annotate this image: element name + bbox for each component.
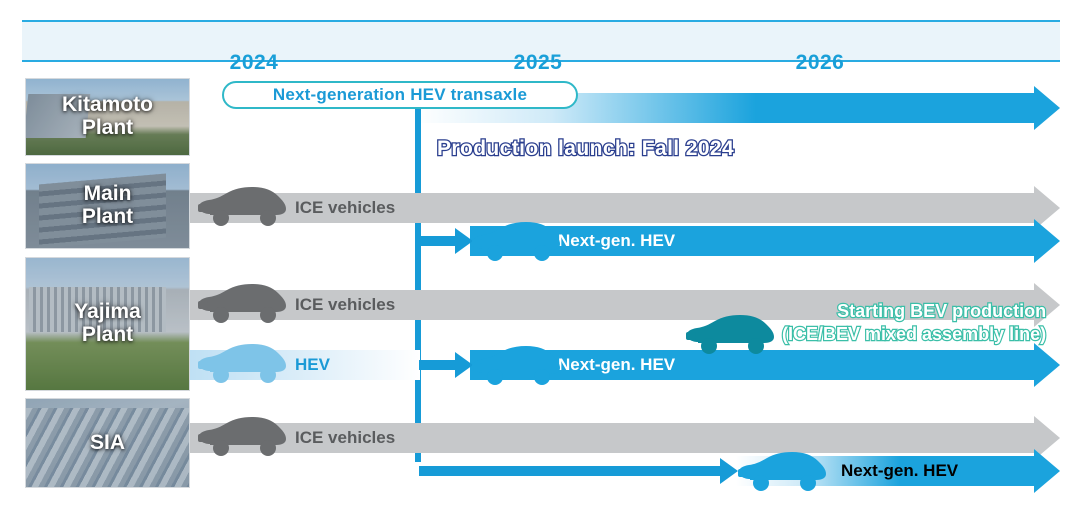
plant-label-kitamoto: Kitamoto Plant xyxy=(62,94,153,139)
bar-label: ICE vehicles xyxy=(295,290,395,320)
ice-car-icon xyxy=(196,414,290,460)
plant-tile-main: Main Plant xyxy=(25,163,190,249)
roadmap-diagram: 2024 2025 2026 Kitamoto Plant Main Plant… xyxy=(0,0,1080,523)
bar-arrow-head xyxy=(1034,86,1060,130)
plant-tile-sia: SIA xyxy=(25,398,190,488)
plant-label-sia: SIA xyxy=(90,432,125,455)
connector-line-sia xyxy=(419,466,724,476)
plant-tile-kitamoto: Kitamoto Plant xyxy=(25,78,190,156)
ice-car-icon xyxy=(196,184,290,230)
callout-production-launch: Production launch: Fall 2024 xyxy=(437,137,734,161)
ice-car-icon xyxy=(196,281,290,327)
bar-label: Next-gen. HEV xyxy=(558,350,675,380)
bar-label: ICE vehicles xyxy=(295,193,395,223)
plant-label-main: Main Plant xyxy=(82,183,133,228)
connector-line-yajima xyxy=(419,360,459,370)
connector-line-main xyxy=(419,236,459,246)
year-label-2026: 2026 xyxy=(760,51,880,75)
bar-sia-ice-vehicles: ICE vehicles xyxy=(190,423,1060,453)
bar-main-ice-vehicles: ICE vehicles xyxy=(190,193,1060,223)
plant-tile-yajima: Yajima Plant xyxy=(25,257,190,391)
nextgen-hev-car-icon xyxy=(736,449,830,495)
callout-bev-production: Starting BEV production (ICE/BEV mixed a… xyxy=(782,300,1046,345)
bar-label: Next-gen. HEV xyxy=(558,226,675,256)
bev-car-icon xyxy=(684,312,778,358)
pill-label: Next-generation HEV transaxle xyxy=(273,85,527,105)
nextgen-hev-car-icon xyxy=(470,219,564,265)
bar-arrow-head xyxy=(1034,219,1060,263)
hev-car-icon xyxy=(196,341,290,387)
plant-label-yajima: Yajima Plant xyxy=(74,301,141,346)
bar-label: ICE vehicles xyxy=(295,423,395,453)
year-label-2024: 2024 xyxy=(194,51,314,75)
bar-label: Next-gen. HEV xyxy=(841,456,958,486)
bar-label: HEV xyxy=(295,350,330,380)
milestone-vertical-line xyxy=(415,105,421,462)
pill-next-generation-hev-transaxle: Next-generation HEV transaxle xyxy=(222,81,578,109)
bar-arrow-head xyxy=(1034,343,1060,387)
nextgen-hev-car-icon xyxy=(470,343,564,389)
timeline-year-header: 2024 2025 2026 xyxy=(22,20,1060,62)
bar-arrow-head xyxy=(1034,449,1060,493)
year-label-2025: 2025 xyxy=(478,51,598,75)
